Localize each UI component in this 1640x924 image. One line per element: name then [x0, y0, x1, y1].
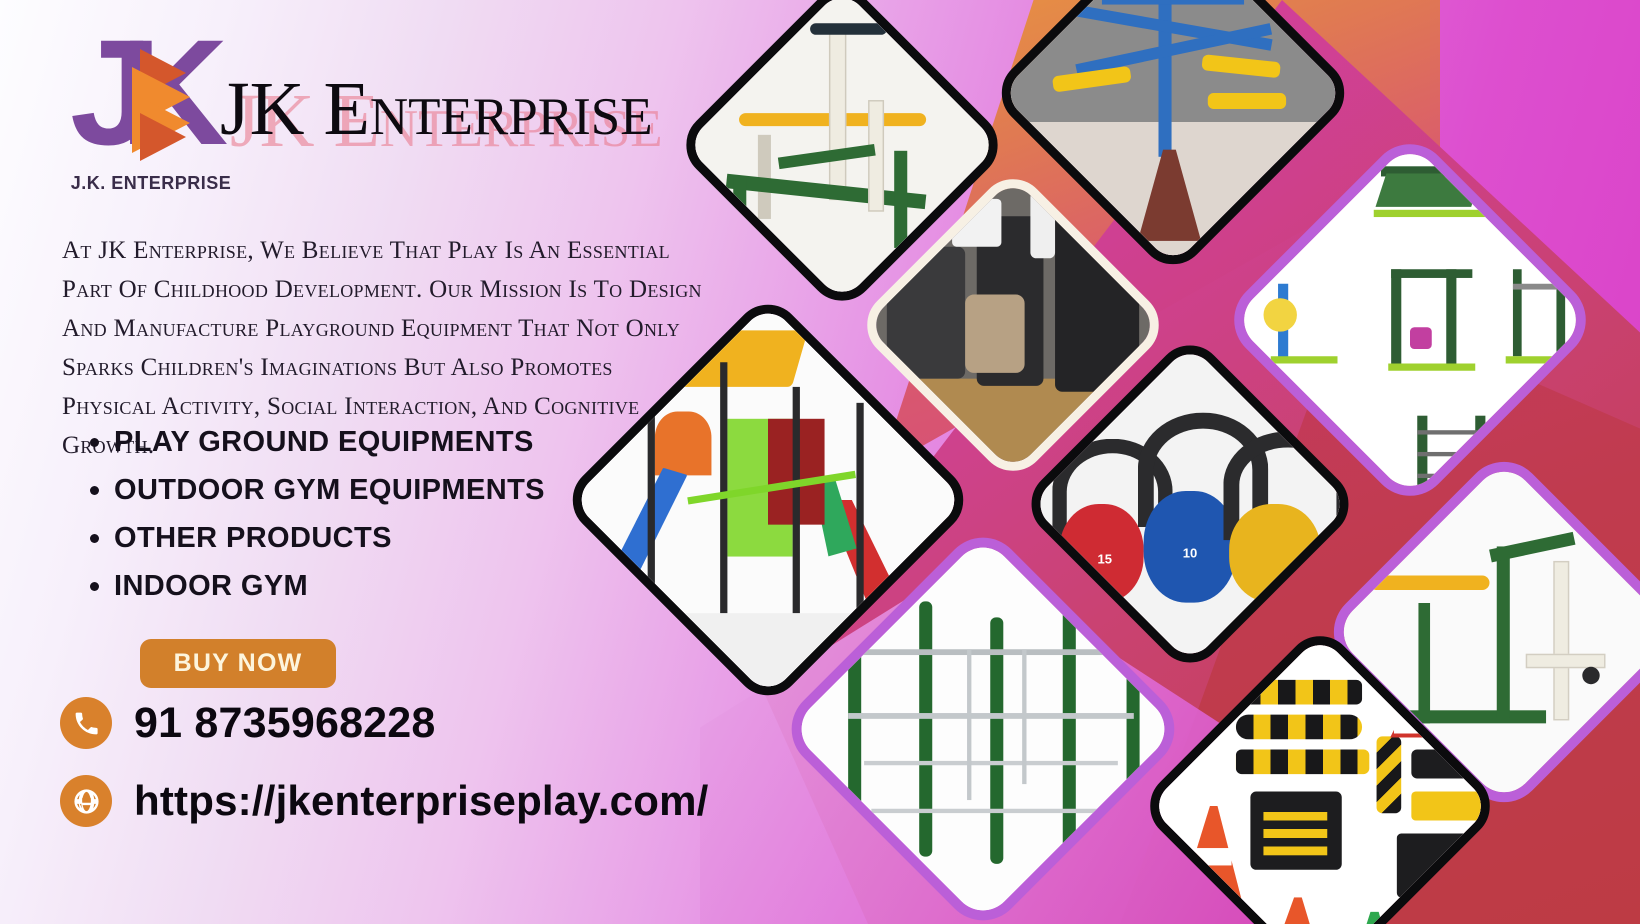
list-item: INDOOR GYM: [114, 562, 545, 610]
contact-phone-row[interactable]: 91 8735968228: [60, 697, 709, 749]
list-item: OUTDOOR GYM EQUIPMENTS: [114, 466, 545, 514]
phone-icon: [60, 697, 112, 749]
contact-website-row[interactable]: https://jkenterpriseplay.com/: [60, 775, 709, 827]
content-column: J K J.K. ENTERPRISE JK Enterprise At JK …: [0, 0, 730, 924]
services-list: PLAY GROUND EQUIPMENTS OUTDOOR GYM EQUIP…: [80, 418, 545, 610]
logo-caption: J.K. ENTERPRISE: [66, 173, 236, 194]
list-item: PLAY GROUND EQUIPMENTS: [114, 418, 545, 466]
kettlebell-label-10: 10: [1167, 530, 1213, 576]
brand-lockup: J K J.K. ENTERPRISE JK Enterprise: [62, 18, 653, 200]
website-url: https://jkenterpriseplay.com/: [134, 777, 709, 825]
globe-icon: [60, 775, 112, 827]
logo-chevron-dark-bottom: [140, 113, 186, 161]
buy-now-button[interactable]: BUY NOW: [140, 639, 336, 688]
jk-logo-icon: J K J.K. ENTERPRISE: [62, 23, 202, 195]
list-item: OTHER PRODUCTS: [114, 514, 545, 562]
phone-number: 91 8735968228: [134, 699, 436, 748]
contact-block: 91 8735968228 https://jkenterpriseplay.c…: [60, 697, 709, 853]
promotional-banner: 15 10: [0, 0, 1640, 924]
kettlebell-label-15: 15: [1082, 537, 1128, 583]
page-title: JK Enterprise: [220, 69, 653, 149]
